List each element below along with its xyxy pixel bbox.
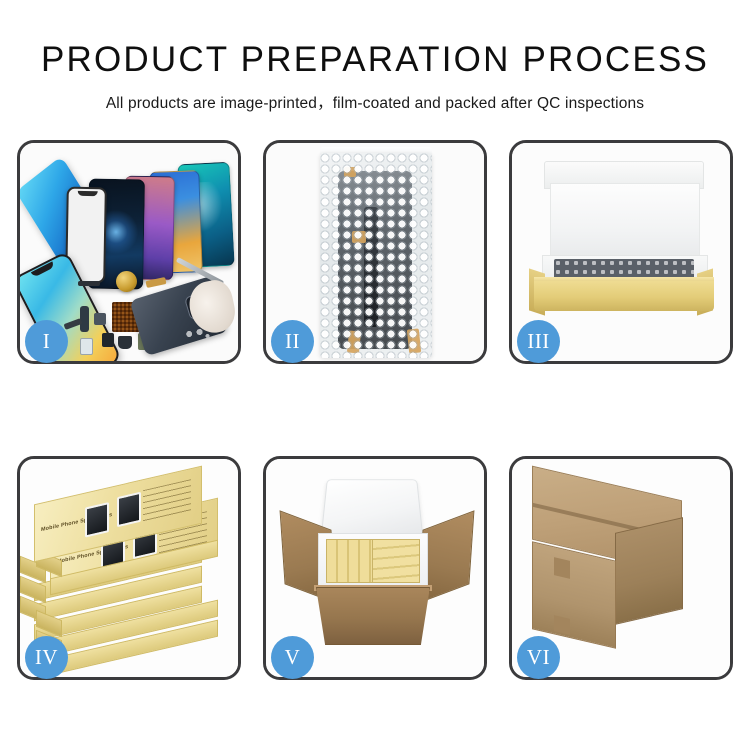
process-step-panel-3[interactable]: III: [509, 140, 733, 364]
bubble-texture-icon: [320, 153, 432, 358]
part-sim-tray-icon: [80, 338, 93, 355]
part-camera-icon: [102, 333, 114, 347]
process-step-panel-6[interactable]: VI: [509, 456, 733, 680]
carton-front-icon: [532, 541, 616, 648]
process-step-panel-5[interactable]: V: [263, 456, 487, 680]
step-badge-6: VI: [517, 636, 560, 679]
screws-icon: [184, 329, 210, 339]
yellow-box-base-icon: [534, 281, 714, 311]
box-stack-group: Mobile Phone Spare Parts Mobile Phone Sp…: [28, 481, 230, 661]
step-badge-4: IV: [25, 636, 68, 679]
step-badge-3: III: [517, 320, 560, 363]
foam-lid-open-icon: [321, 479, 423, 536]
process-step-panel-4[interactable]: Mobile Phone Spare Parts Mobile Phone Sp…: [17, 456, 241, 680]
screen-thumbnail-icon: [85, 502, 109, 538]
inner-boxes-row-icon: [372, 539, 420, 583]
part-strip-icon: [78, 281, 100, 286]
page-title: PRODUCT PREPARATION PROCESS: [0, 40, 750, 80]
process-step-grid: I II: [17, 140, 733, 680]
step-badge-2: II: [271, 320, 314, 363]
process-step-panel-2[interactable]: II: [263, 140, 487, 364]
process-step-panel-1[interactable]: I: [17, 140, 241, 364]
step-badge-1: I: [25, 320, 68, 363]
box-spec-lines-icon: [143, 479, 191, 524]
part-flex-cable-icon: [80, 306, 89, 332]
carton-tab-icon: [554, 615, 570, 635]
page-subtitle: All products are image-printed，film-coat…: [0, 91, 750, 113]
carton-tab-icon: [554, 557, 570, 579]
speaker-coil-icon: [116, 271, 137, 292]
step-badge-5: V: [271, 636, 314, 679]
carton-side-icon: [615, 517, 683, 625]
product-preparation-process-page: PRODUCT PREPARATION PROCESS All products…: [0, 0, 750, 750]
part-module-icon: [94, 313, 106, 325]
part-speaker-icon: [118, 336, 132, 349]
bubble-wrap-bag-icon: [320, 153, 432, 358]
screen-thumbnail-icon: [117, 492, 141, 528]
carton-front-icon: [316, 587, 430, 645]
foam-liner-icon: [550, 183, 700, 263]
page-header: PRODUCT PREPARATION PROCESS All products…: [0, 0, 750, 113]
